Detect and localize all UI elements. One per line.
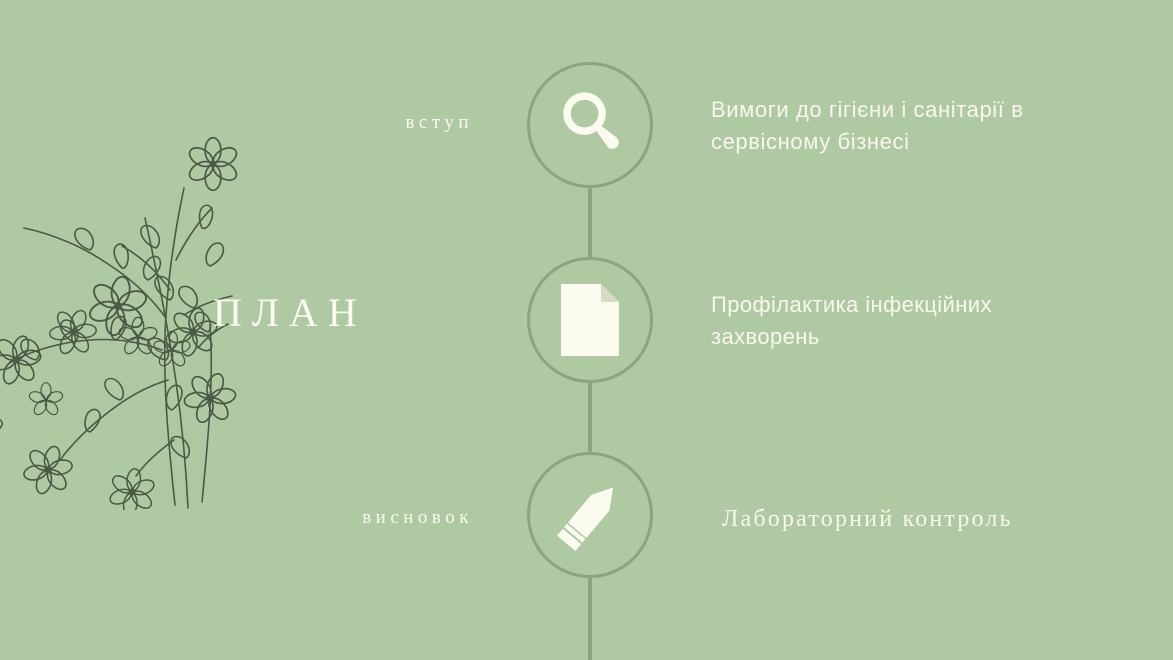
timeline-item-description-1: Вимоги до гігієни і санітарії в сервісно… (711, 94, 1091, 157)
timeline-item-description-2: Профілактика інфекційних захворень (711, 289, 1071, 352)
timeline-node-1[interactable] (527, 62, 653, 188)
timeline-connector-3 (588, 578, 592, 660)
timeline-node-3[interactable] (527, 452, 653, 578)
pencil-icon (550, 475, 630, 555)
magnifier-icon (552, 87, 628, 163)
timeline-connector-2 (588, 383, 592, 453)
plan-slide: ПЛАН вступ висновок (0, 0, 1173, 660)
stage-label-3: висновок (362, 507, 473, 529)
timeline-item-description-3: Лабораторний контроль (722, 502, 1122, 537)
timeline-node-2[interactable] (527, 257, 653, 383)
timeline-connector-1 (588, 188, 592, 258)
document-icon (559, 282, 621, 358)
stage-label-1: вступ (405, 112, 473, 134)
page-title: ПЛАН (213, 293, 367, 333)
